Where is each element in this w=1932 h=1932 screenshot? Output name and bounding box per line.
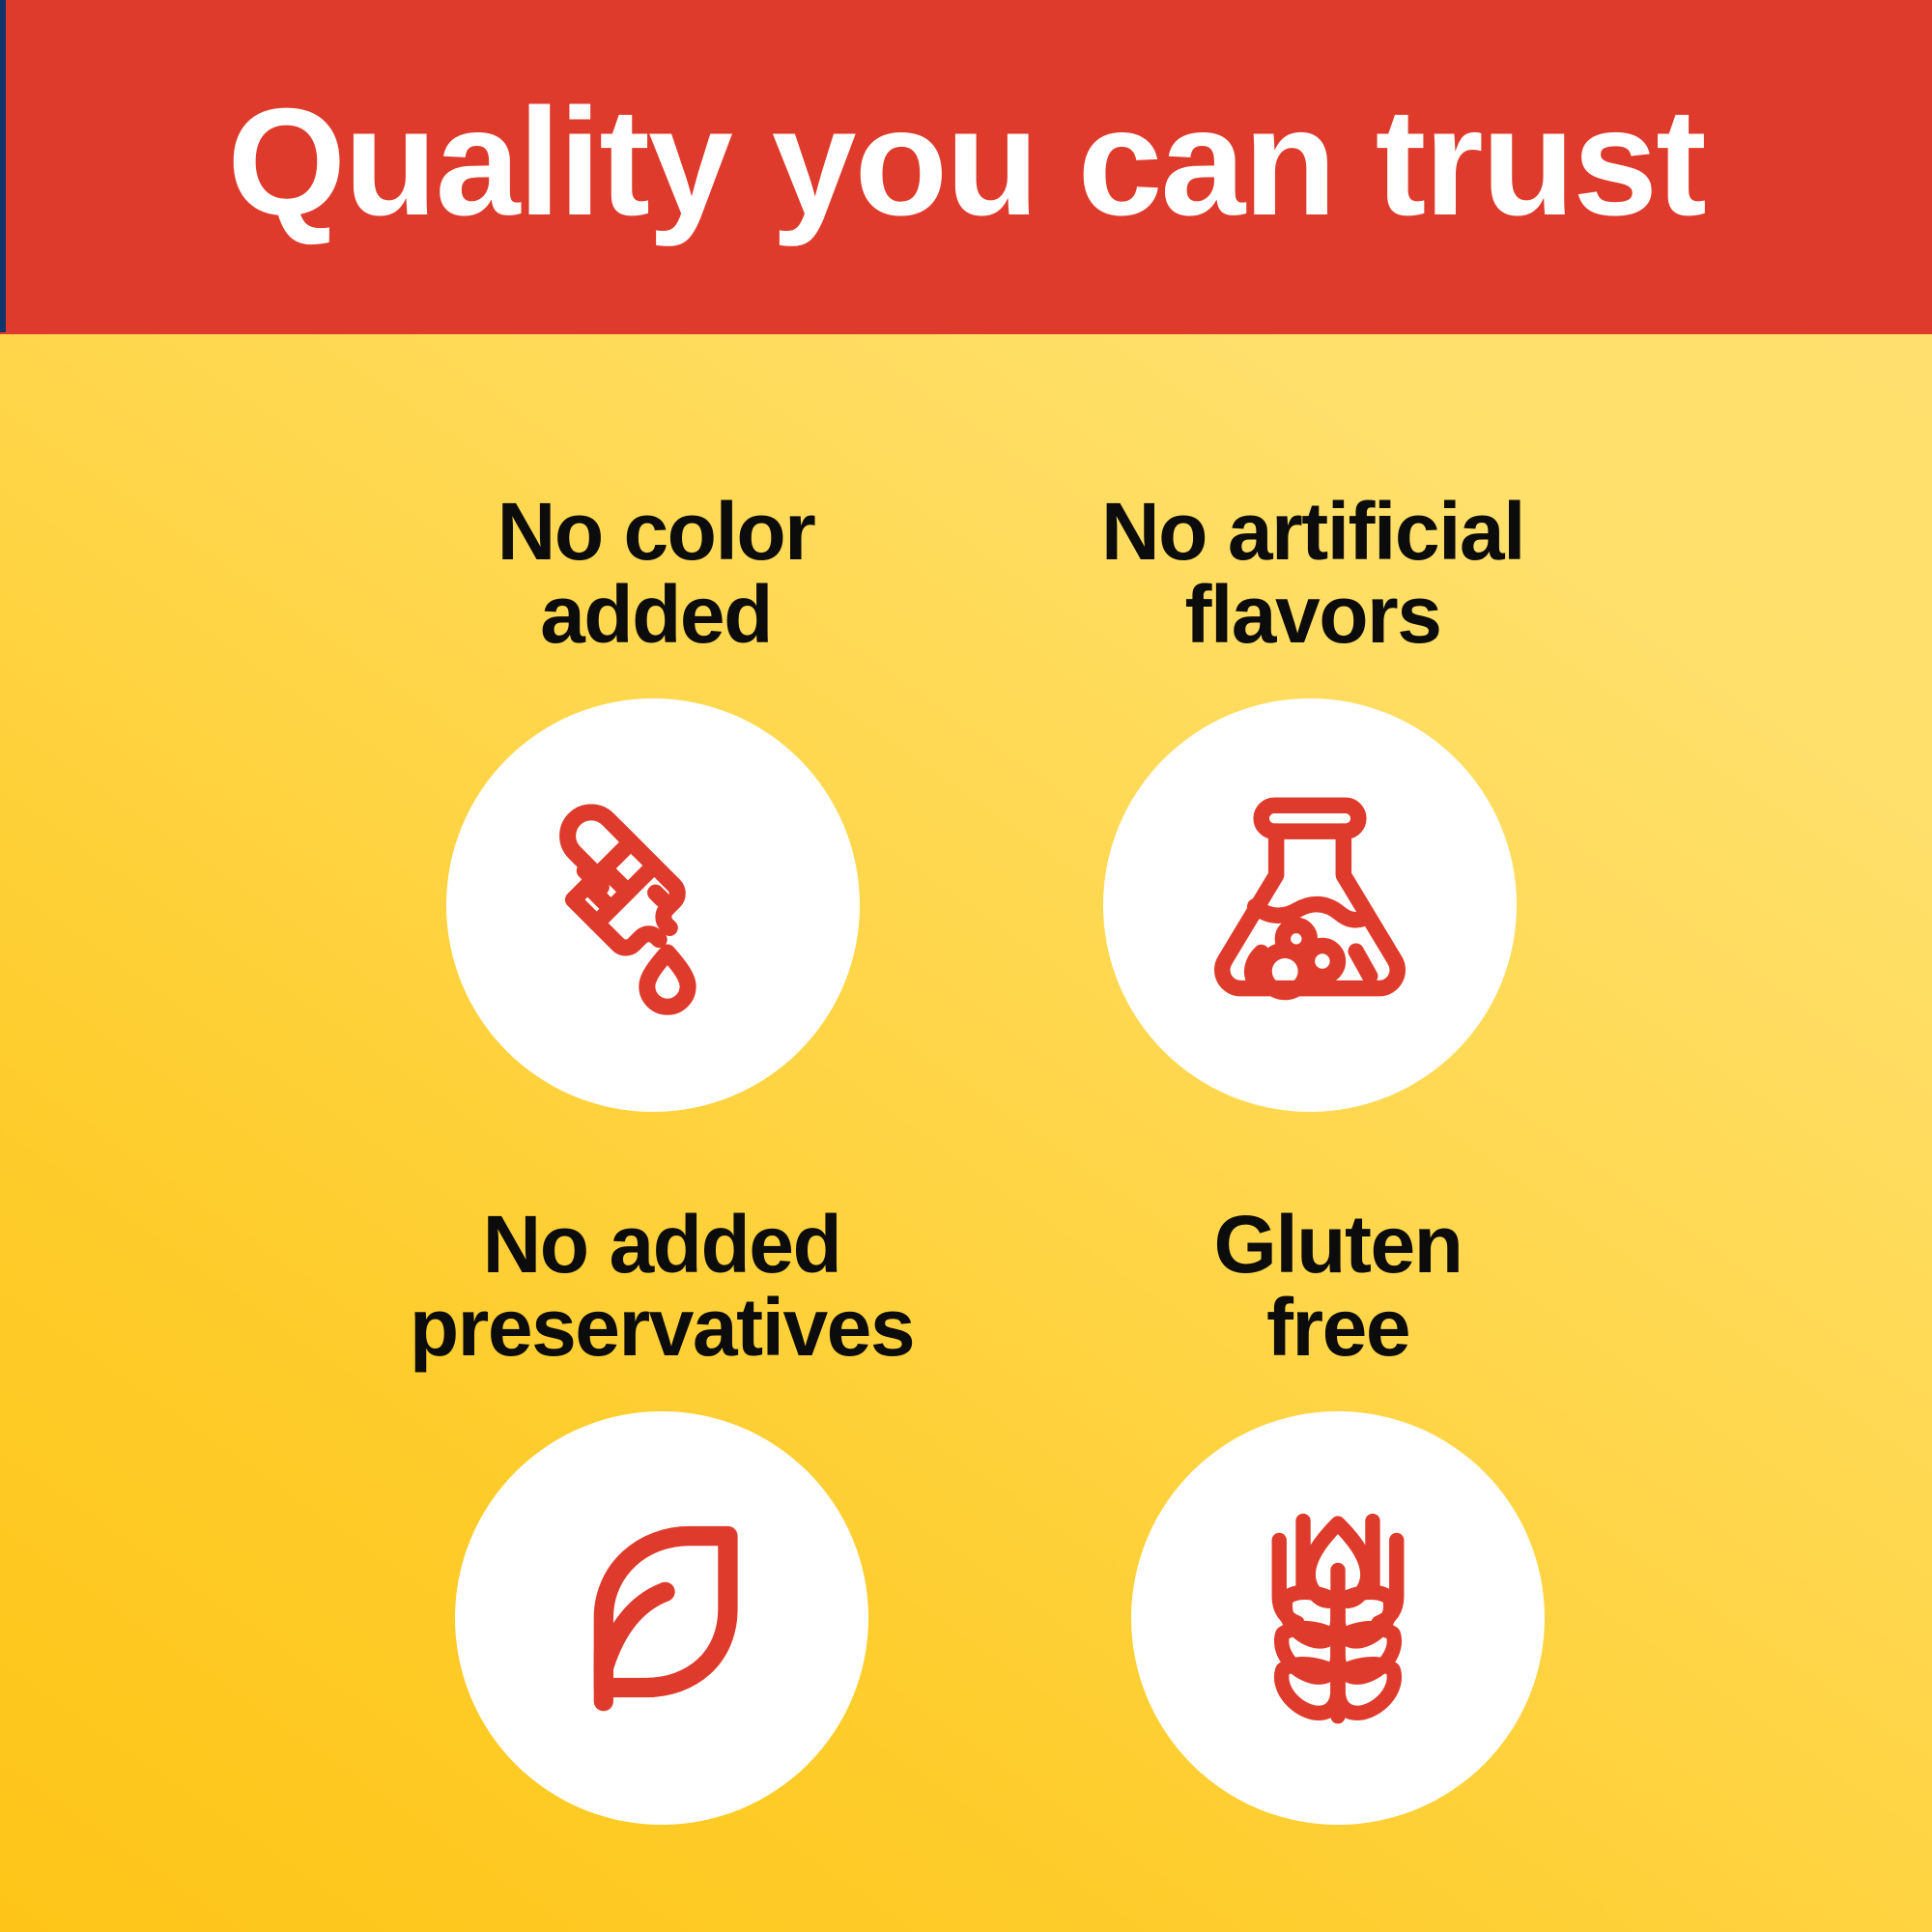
feature-gluten-free: Gluten free <box>971 1204 1705 1825</box>
feature-label: No artificial flavors <box>1101 491 1524 656</box>
icon-bubble <box>1131 1411 1545 1825</box>
feature-no-color-added: No color added <box>286 491 1020 1112</box>
header-banner: Quality you can trust <box>0 0 1932 334</box>
page-title: Quality you can trust <box>0 0 1932 334</box>
dropper-icon <box>528 781 778 1030</box>
wheat-icon <box>1218 1498 1458 1738</box>
quality-badge-poster: Quality you can trust No color added <box>0 0 1932 1932</box>
icon-bubble <box>1103 698 1517 1112</box>
feature-label: No color added <box>497 491 815 656</box>
feature-grid: No color added <box>0 334 1932 1932</box>
icon-bubble <box>455 1411 868 1825</box>
feature-label: Gluten free <box>1214 1204 1463 1369</box>
feature-no-added-preservatives: No added preservatives <box>295 1204 1029 1825</box>
flask-icon <box>1185 781 1435 1030</box>
leaf-icon <box>548 1504 776 1732</box>
feature-no-artificial-flavors: No artificial flavors <box>943 491 1677 1112</box>
feature-label: No added preservatives <box>410 1204 914 1369</box>
icon-bubble <box>446 698 860 1112</box>
